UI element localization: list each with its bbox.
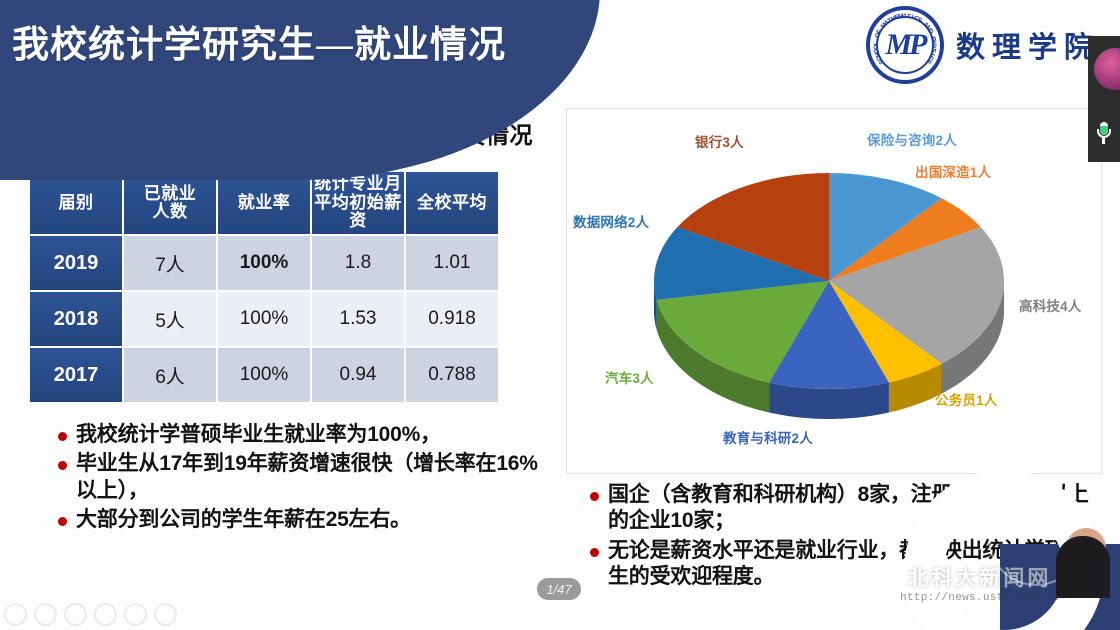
- pie-slice-label: 高科技4人: [1019, 295, 1082, 315]
- pie-chart: 保险与咨询2人出国深造1人高科技4人公务员1人教育与科研2人汽车3人数据网络2人…: [567, 109, 1101, 473]
- table-row: 20176人100%0.940.788: [30, 348, 498, 402]
- pie-slice-label: 数据网络2人: [573, 211, 649, 231]
- control-icon-2[interactable]: [34, 603, 57, 626]
- control-icon-1[interactable]: [4, 603, 27, 626]
- cell-rate: 100%: [218, 236, 310, 290]
- cell-salary: 1.53: [312, 292, 404, 346]
- page-title-main: 我校统计学研究生: [12, 24, 316, 65]
- pie-svg: [567, 109, 1103, 475]
- col-header-rate: 就业率: [218, 172, 310, 234]
- cell-rate: 100%: [218, 292, 310, 346]
- logo-school-name: 数理学院: [956, 24, 1100, 66]
- cell-school-avg: 1.01: [406, 236, 498, 290]
- col-header-salary: 统计专业月平均初始薪资: [312, 172, 404, 234]
- col-header-year: 届别: [30, 172, 122, 234]
- cell-year: 2019: [30, 236, 122, 290]
- microphone-icon[interactable]: [1096, 122, 1111, 144]
- cell-salary: 1.8: [312, 236, 404, 290]
- employment-table: 届别 已就业人数 就业率 统计专业月平均初始薪资 全校平均 20197人100%…: [28, 170, 500, 404]
- slide-screenshot: 我校统计学研究生—就业情况 SCHOOL OF MATHEMATICS AND …: [0, 0, 1120, 630]
- cell-employed: 5人: [124, 292, 216, 346]
- pie-chart-card: 保险与咨询2人出国深造1人高科技4人公务员1人教育与科研2人汽车3人数据网络2人…: [566, 108, 1102, 474]
- pie-slice-label: 出国深造1人: [915, 161, 991, 181]
- table-header-row: 届别 已就业人数 就业率 统计专业月平均初始薪资 全校平均: [30, 172, 498, 234]
- logo-monogram: MP: [885, 28, 924, 62]
- col-header-employed: 已就业人数: [124, 172, 216, 234]
- page-indicator: 1/47: [537, 578, 581, 600]
- page-title: 我校统计学研究生—就业情况: [12, 14, 506, 68]
- control-icon-6[interactable]: [154, 603, 177, 626]
- cell-rate: 100%: [218, 348, 310, 402]
- cell-employed: 6人: [124, 348, 216, 402]
- control-icon-4[interactable]: [94, 603, 117, 626]
- cell-school-avg: 0.788: [406, 348, 498, 402]
- pie-slice-label: 银行3人: [695, 131, 744, 151]
- col-header-school-avg: 全校平均: [406, 172, 498, 234]
- call-controls-bar[interactable]: [4, 603, 177, 626]
- cell-salary: 0.94: [312, 348, 404, 402]
- video-participant-thumbnail[interactable]: [1088, 36, 1120, 162]
- left-bullet-list: 我校统计学普硕毕业生就业率为100%，毕业生从17年到19年薪资增速很快（增长率…: [58, 422, 538, 534]
- table-row: 20185人100%1.530.918: [30, 292, 498, 346]
- page-title-sub: 就业情况: [354, 24, 506, 65]
- pie-slice-label: 教育与科研2人: [723, 427, 813, 447]
- avatar: [1094, 48, 1120, 90]
- control-icon-3[interactable]: [64, 603, 87, 626]
- pie-slice-label: 公务员1人: [935, 389, 998, 409]
- logo-emblem-icon: SCHOOL OF MATHEMATICS AND PHYSICS MP: [866, 6, 944, 84]
- cell-employed: 7人: [124, 236, 216, 290]
- table-row: 20197人100%1.81.01: [30, 236, 498, 290]
- pie-slice-label: 保险与咨询2人: [867, 129, 957, 149]
- speaker-head-overlay: [1056, 536, 1110, 598]
- cell-school-avg: 0.918: [406, 292, 498, 346]
- bullet-item: 毕业生从17年到19年薪资增速很快（增长率在16%以上），: [58, 451, 538, 504]
- page-title-dash: —: [316, 24, 354, 65]
- bullet-item: 我校统计学普硕毕业生就业率为100%，: [58, 422, 538, 448]
- pie-slice-label: 汽车3人: [605, 367, 654, 387]
- cell-year: 2017: [30, 348, 122, 402]
- school-logo: SCHOOL OF MATHEMATICS AND PHYSICS MP 数理学…: [866, 6, 1100, 84]
- bullet-item: 大部分到公司的学生年薪在25左右。: [58, 507, 538, 533]
- control-icon-5[interactable]: [124, 603, 147, 626]
- cell-year: 2018: [30, 292, 122, 346]
